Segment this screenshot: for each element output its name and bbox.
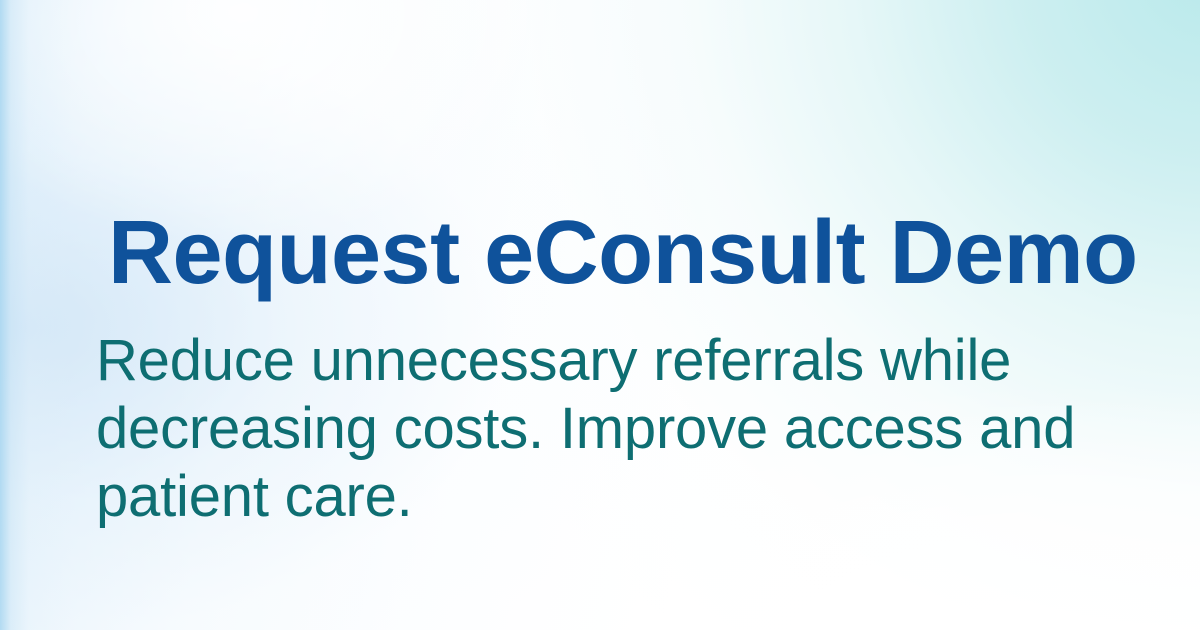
page-subtitle: Reduce unnecessary referrals while decre… <box>96 327 1056 531</box>
page-subtitle-line-1: Reduce unnecessary referrals while <box>96 327 1056 395</box>
og-share-card: Request eConsult Demo Reduce unnecessary… <box>0 0 1200 630</box>
page-title: Request eConsult Demo <box>108 204 1138 302</box>
card-content: Request eConsult Demo Reduce unnecessary… <box>0 0 1200 630</box>
page-subtitle-line-2: decreasing costs. Improve access and <box>96 395 1056 463</box>
page-subtitle-line-3: patient care. <box>96 463 1056 531</box>
